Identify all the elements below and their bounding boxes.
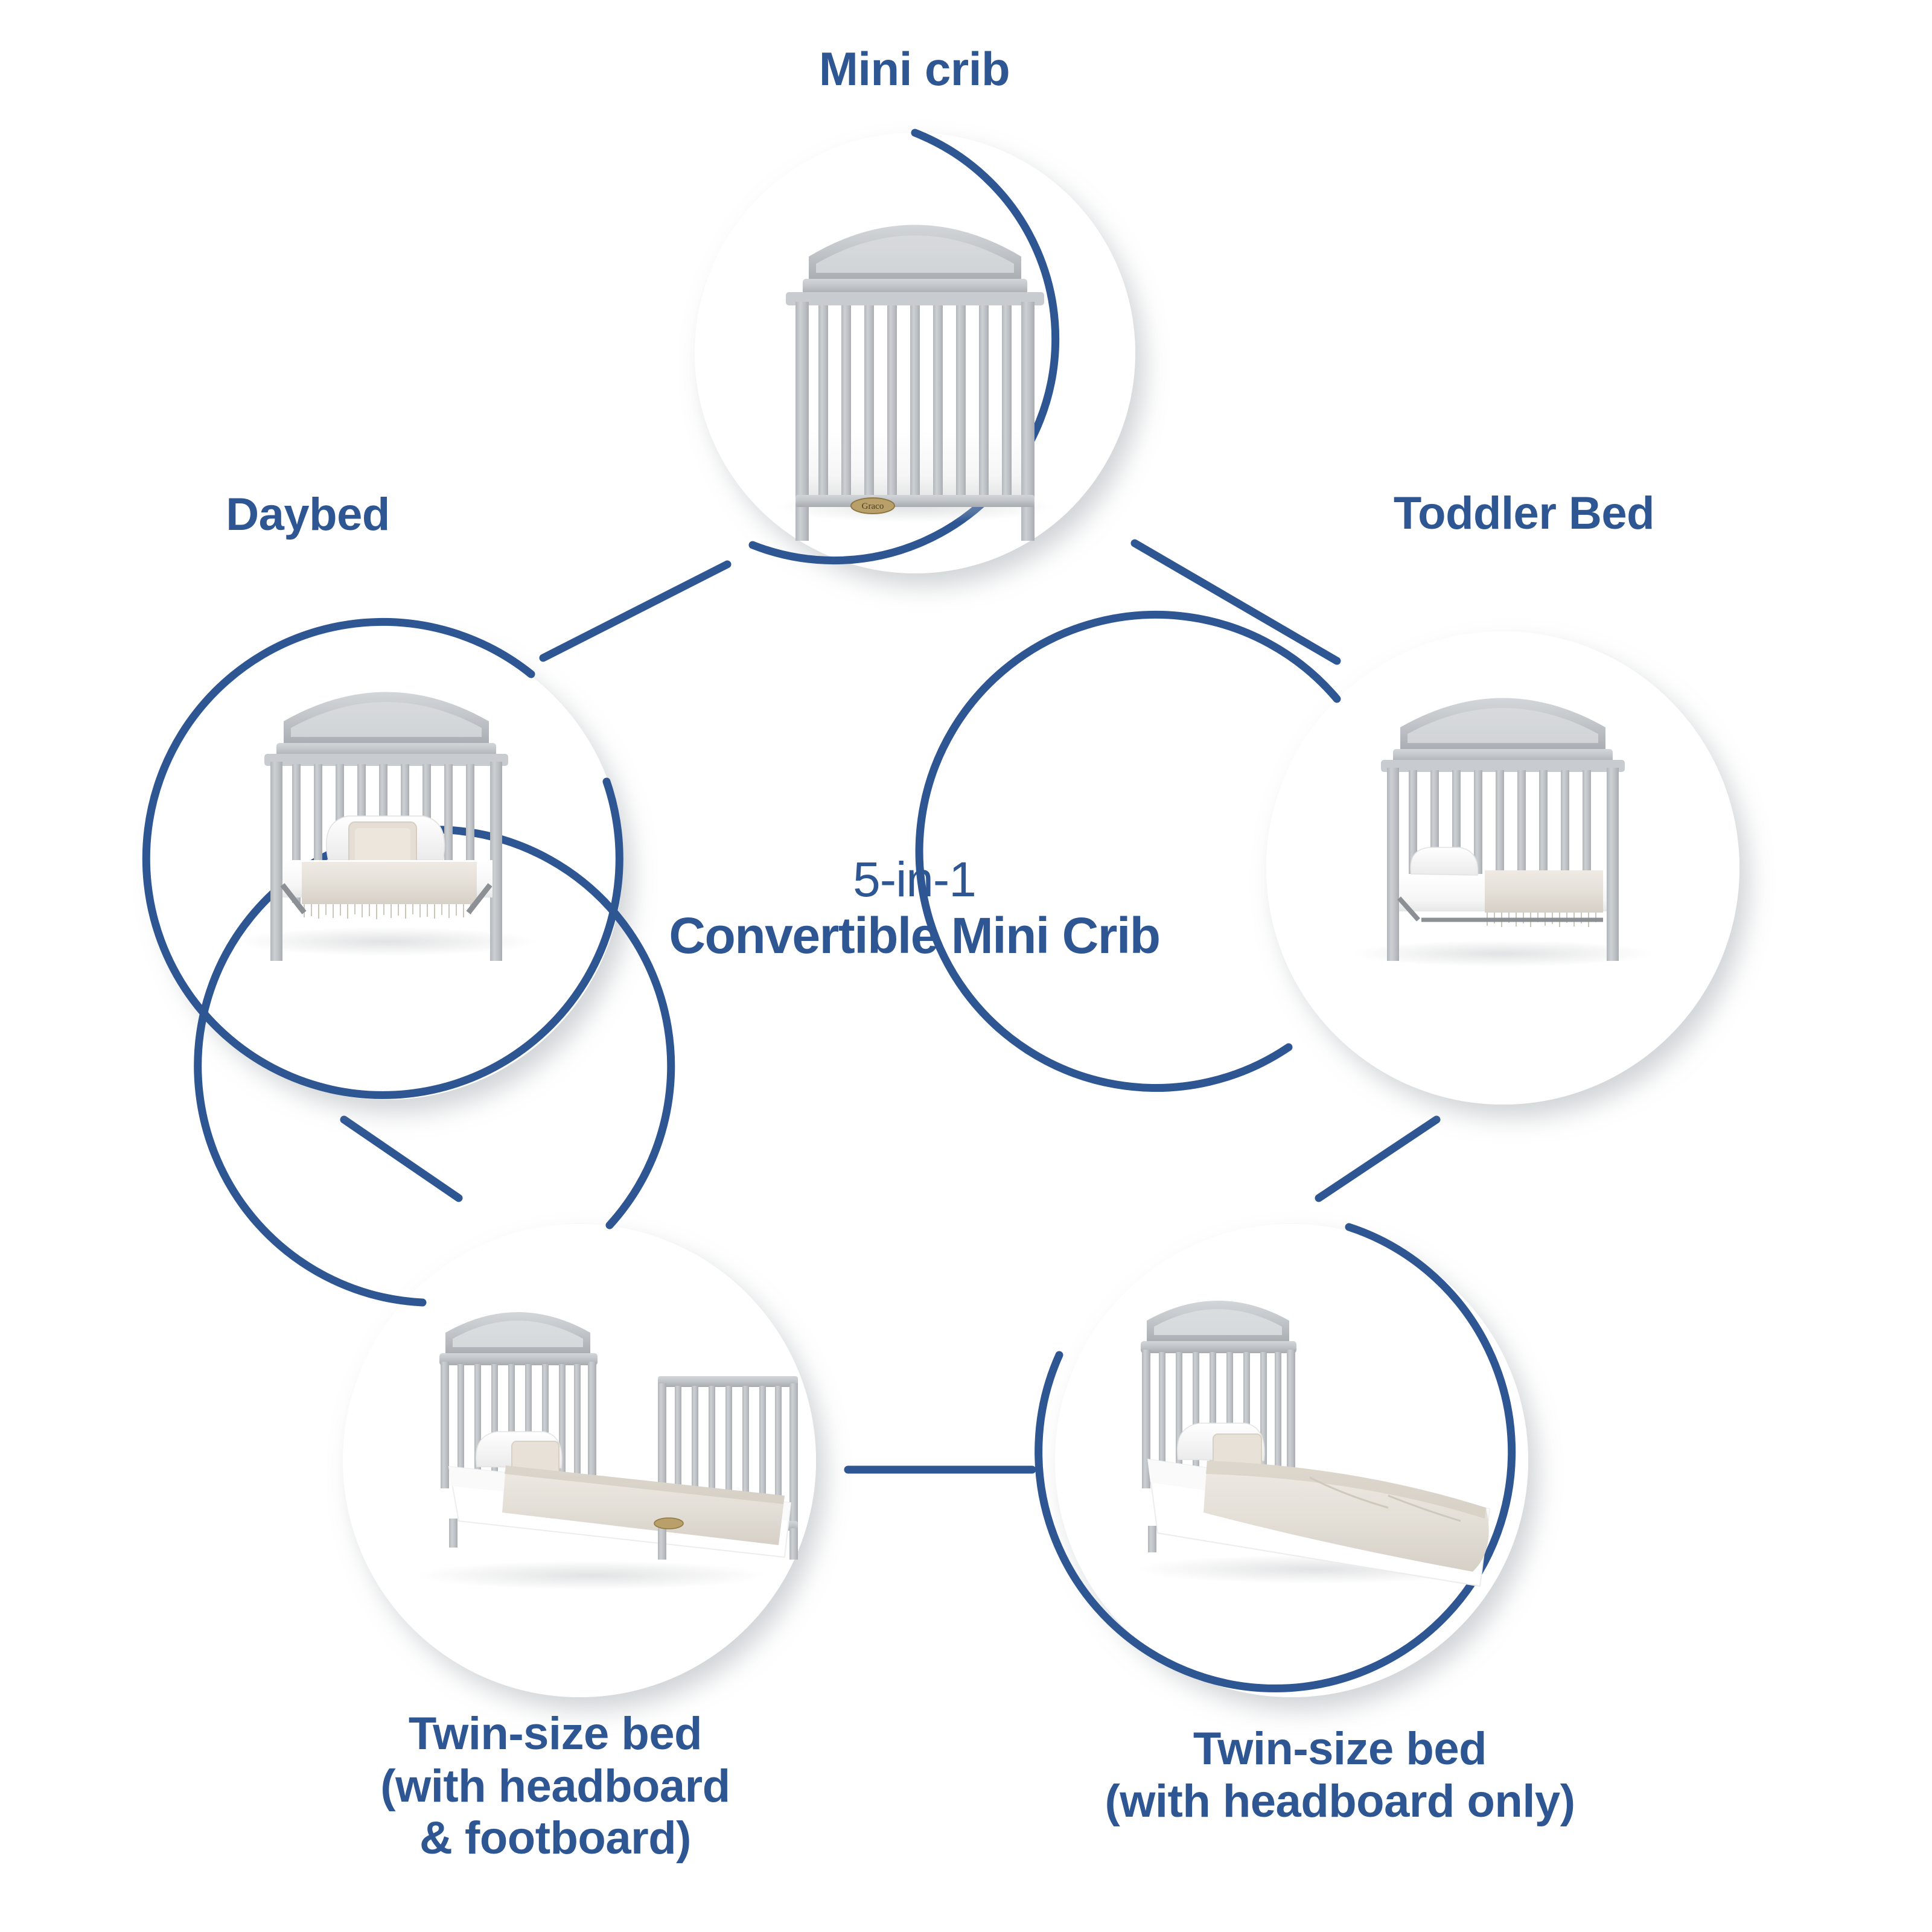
node-label-twin-headboard-footboard: Twin-size bed (with headboard & footboar… <box>253 1708 857 1865</box>
center-title: 5-in-1 Convertible Mini Crib <box>622 854 1207 964</box>
connector-minicrib-to-daybed <box>543 564 727 658</box>
brand-badge-label: Graco <box>862 502 884 511</box>
center-title-line2: Convertible Mini Crib <box>622 907 1207 964</box>
diagram-svg: Graco <box>0 0 1932 1932</box>
node-label-twin-headboard-only: Twin-size bed (with headboard only) <box>1020 1723 1660 1828</box>
center-title-line1: 5-in-1 <box>622 854 1207 906</box>
node-label-daybed: Daybed <box>78 489 537 541</box>
connector-minicrib-to-toddler <box>1135 543 1337 661</box>
connector-toddler-to-twinheadboard <box>1319 1120 1436 1198</box>
node-label-toddler-bed: Toddler Bed <box>1252 488 1796 540</box>
infographic-canvas: Graco <box>0 0 1932 1932</box>
node-circle-twin-headboard-only[interactable] <box>1039 1224 1528 1697</box>
connector-daybed-to-twinfull <box>344 1120 459 1198</box>
node-label-mini-crib: Mini crib <box>613 42 1216 96</box>
